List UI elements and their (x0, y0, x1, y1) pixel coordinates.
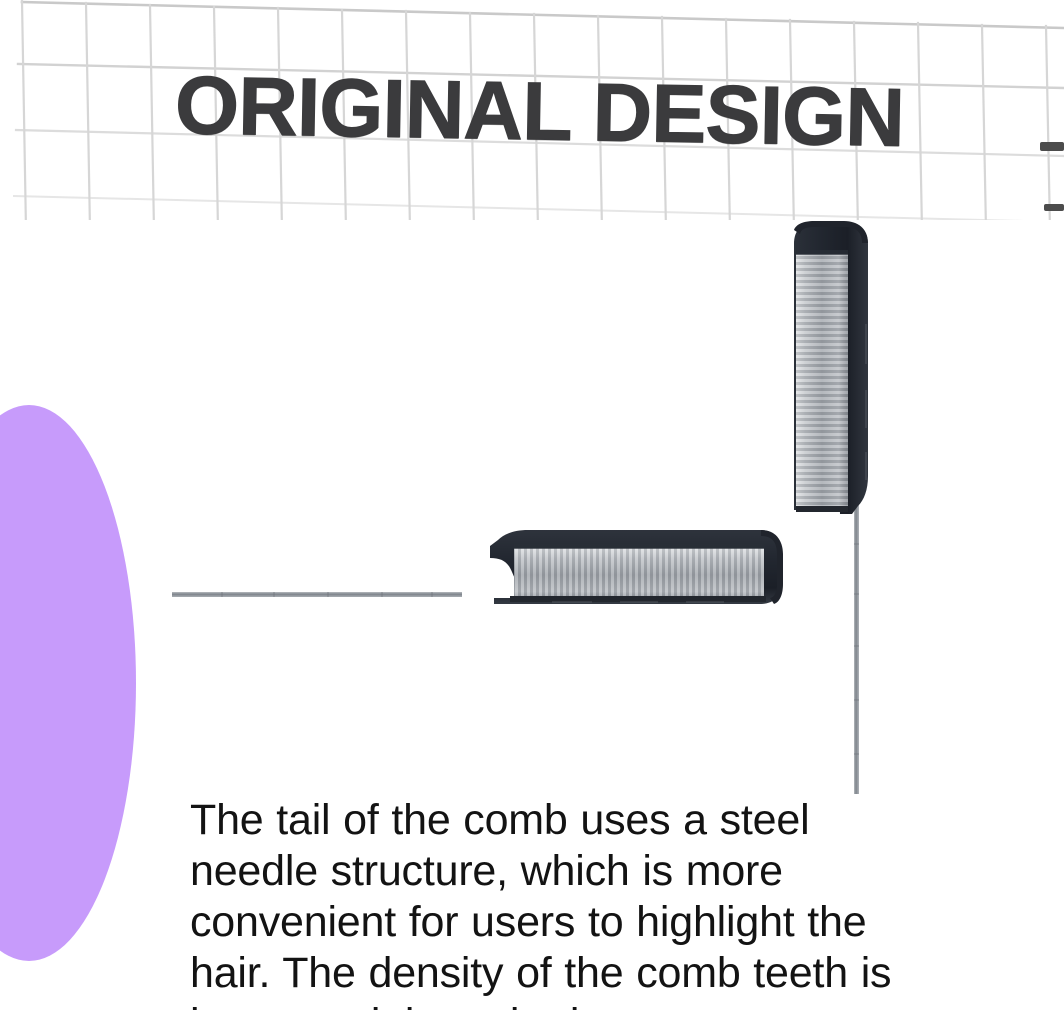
comb-vertical-image (748, 214, 908, 814)
product-infographic: ORIGINAL DESIGN (0, 0, 1064, 1010)
steel-needle (854, 504, 859, 794)
steel-needle (172, 592, 462, 597)
product-description-text: The tail of the comb uses a steel needle… (190, 795, 918, 1010)
purple-half-ellipse-decor (0, 405, 136, 961)
comb-horizontal-image (152, 520, 812, 650)
page-title: ORIGINAL DESIGN (174, 62, 904, 163)
grid-edge-tick (1040, 142, 1064, 211)
